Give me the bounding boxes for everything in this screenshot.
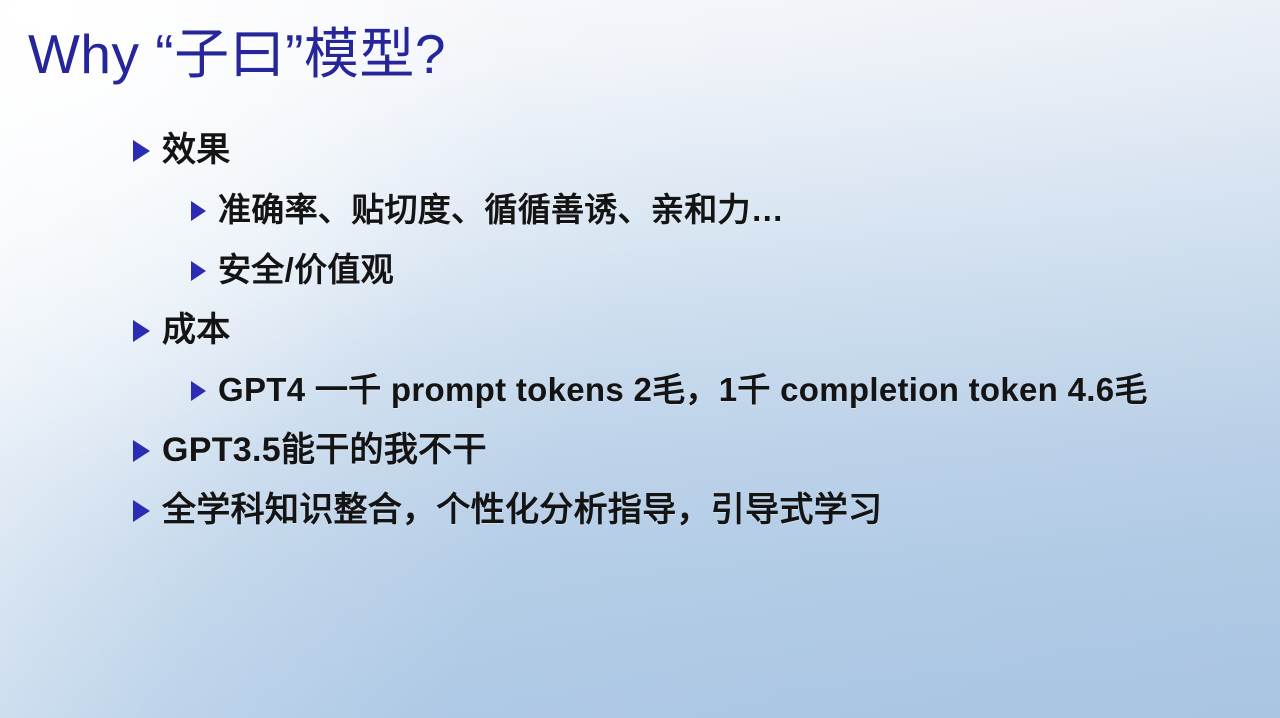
triangle-right-icon: [191, 261, 206, 281]
bullet-label: 安全/价值观: [218, 248, 394, 292]
bullet-label: GPT4 一千 prompt tokens 2毛，1千 completion t…: [218, 368, 1148, 412]
bullet-label: 效果: [162, 128, 231, 172]
triangle-right-icon: [191, 381, 206, 401]
triangle-right-icon: [133, 500, 150, 522]
bullet-label: 准确率、贴切度、循循善诱、亲和力…: [218, 188, 784, 232]
bullet-label: GPT3.5能干的我不干: [162, 428, 487, 472]
triangle-right-icon: [133, 440, 150, 462]
bullet-item: 效果: [0, 128, 1280, 188]
bullet-item: 成本: [0, 308, 1280, 368]
bullet-label: 全学科知识整合，个性化分析指导，引导式学习: [162, 488, 882, 532]
presentation-slide: Why “子曰”模型? 效果 准确率、贴切度、循循善诱、亲和力… 安全/价值观 …: [0, 0, 1280, 718]
bullet-list: 效果 准确率、贴切度、循循善诱、亲和力… 安全/价值观 成本 GPT4 一千 p…: [0, 128, 1280, 548]
bullet-item: 准确率、贴切度、循循善诱、亲和力…: [0, 188, 1280, 248]
bullet-item: 安全/价值观: [0, 248, 1280, 308]
triangle-right-icon: [133, 140, 150, 162]
slide-title: Why “子曰”模型?: [28, 24, 446, 85]
triangle-right-icon: [191, 201, 206, 221]
bullet-item: 全学科知识整合，个性化分析指导，引导式学习: [0, 488, 1280, 548]
triangle-right-icon: [133, 320, 150, 342]
slide-content: Why “子曰”模型? 效果 准确率、贴切度、循循善诱、亲和力… 安全/价值观 …: [0, 0, 1280, 718]
bullet-label: 成本: [162, 308, 231, 352]
bullet-item: GPT4 一千 prompt tokens 2毛，1千 completion t…: [0, 368, 1280, 428]
bullet-item: GPT3.5能干的我不干: [0, 428, 1280, 488]
